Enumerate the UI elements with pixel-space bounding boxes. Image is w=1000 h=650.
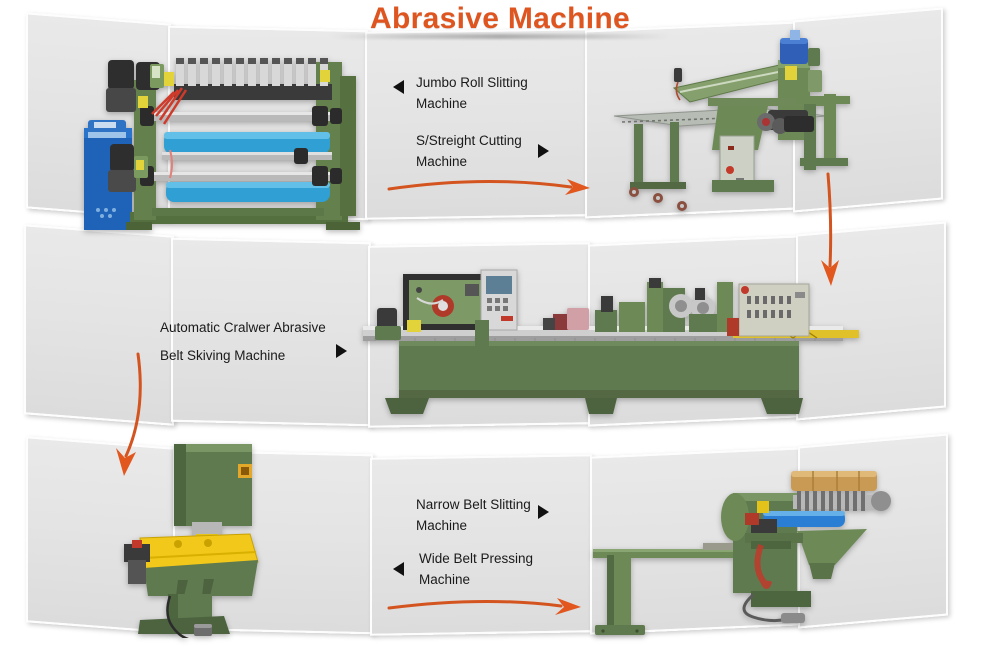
- label-straight-cutting-line1: S/Streight Cutting: [416, 130, 522, 151]
- flow-arrow-down-row1-to-row2: [808, 172, 854, 292]
- label-narrow-belt-slitting-line1: Narrow Belt Slitting: [416, 494, 531, 515]
- flow-arrow-right-row3: [385, 586, 595, 626]
- page-title: Abrasive Machine: [0, 2, 1000, 36]
- label-wide-belt-pressing: Wide Belt Pressing Machine: [419, 548, 533, 590]
- triangle-left-icon-wide-pressing: [393, 562, 404, 576]
- triangle-left-icon-jumbo: [393, 80, 404, 94]
- triangle-right-icon-skiving: [336, 344, 347, 358]
- machine-straight-cutting: [608, 30, 908, 230]
- label-crawler-abrasive-skiving-line2: Belt Skiving Machine: [160, 345, 326, 366]
- label-narrow-belt-slitting: Narrow Belt Slitting Machine: [416, 494, 531, 536]
- label-jumbo-roll-slitting: Jumbo Roll Slitting Machine: [416, 72, 528, 114]
- flow-arrow-right-row1: [385, 165, 605, 205]
- label-crawler-abrasive-skiving: Automatic Cralwer Abrasive Belt Skiving …: [160, 317, 326, 366]
- triangle-right-icon-narrow-slitting: [538, 505, 549, 519]
- label-narrow-belt-slitting-line2: Machine: [416, 515, 531, 536]
- label-wide-belt-pressing-line1: Wide Belt Pressing: [419, 548, 533, 569]
- machine-narrow-belt-slitting: [585, 455, 915, 645]
- machine-crawler-abrasive-belt-skiving: [355, 262, 875, 427]
- label-crawler-abrasive-skiving-line1: Automatic Cralwer Abrasive: [160, 317, 326, 338]
- label-jumbo-roll-slitting-line2: Machine: [416, 93, 528, 114]
- triangle-right-icon-straight-cutting: [538, 144, 549, 158]
- label-jumbo-roll-slitting-line1: Jumbo Roll Slitting: [416, 72, 528, 93]
- machine-jumbo-roll-slitting: [78, 40, 363, 230]
- abrasive-machine-infographic: Abrasive Machine: [0, 0, 1000, 650]
- flow-arrow-down-row2-to-row3: [98, 352, 158, 482]
